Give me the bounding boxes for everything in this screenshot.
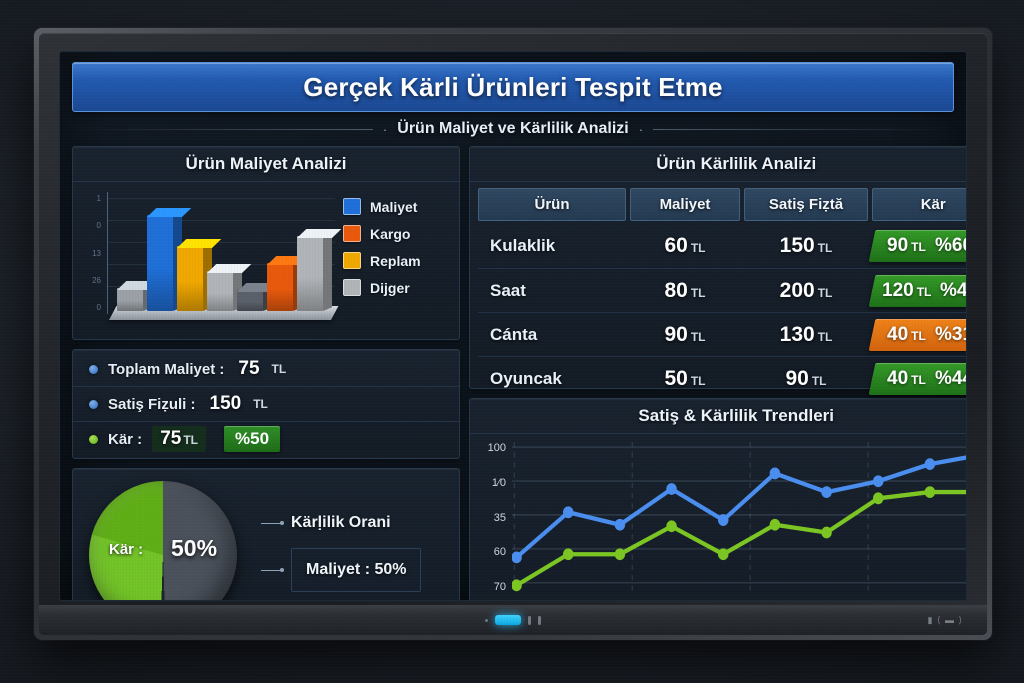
profit-percent: %60 — [935, 235, 967, 257]
power-led-icon[interactable] — [495, 615, 521, 625]
cell-product-name: Kulaklik — [478, 236, 626, 256]
bar-face — [177, 246, 203, 311]
cost-analysis-panel: Ürün Maliyet Analizi 1013260 MaliyetK — [72, 146, 460, 340]
legend-item-replam: Replam — [343, 252, 451, 269]
profit-percent: %44 — [935, 368, 967, 390]
bar-top — [147, 208, 191, 217]
table-row[interactable]: Saat80TL200TL120TL%40 — [478, 268, 967, 312]
trend-data-point — [666, 483, 676, 495]
leader-line-icon — [261, 570, 283, 571]
profit-amount: 90TL — [887, 235, 926, 257]
summary-label: Satiş Fiẓuli : — [108, 396, 196, 413]
trend-data-point — [615, 519, 625, 531]
trend-y-tick: 60 — [478, 546, 506, 558]
right-column: Ürün Kärlilik Analizi ÜrünMaliyetSatiş F… — [469, 146, 967, 601]
summary-value: 75 — [238, 358, 259, 380]
bar-top — [297, 229, 341, 238]
bar-chart-bar — [177, 246, 203, 311]
bar-y-tick: 13 — [81, 249, 101, 258]
bar-face — [207, 271, 233, 311]
leader-line-icon — [261, 523, 283, 524]
profit-amount: 40TL — [887, 368, 926, 390]
bar-face — [117, 288, 143, 311]
trend-chart-y-axis: 1001⁄0356070 — [478, 442, 506, 593]
table-header-cell[interactable]: Maliyet — [630, 188, 740, 221]
monitor-bezel: Gerçek Kärli Ürünleri Tespit Etme · Ürün… — [39, 33, 987, 635]
title-bar: Gerçek Kärli Ürünleri Tespit Etme — [72, 62, 954, 112]
legend-swatch-icon — [343, 198, 361, 215]
bullet-icon — [89, 400, 98, 409]
bar-face — [147, 215, 173, 311]
bar-chart-bar — [117, 288, 143, 311]
dashboard-grid: Ürün Maliyet Analizi 1013260 MaliyetK — [72, 146, 954, 598]
bar-y-tick: 26 — [81, 276, 101, 285]
trend-chart-plot — [512, 442, 967, 593]
summary-unit: TL — [183, 433, 198, 447]
profit-percent: %31 — [935, 324, 967, 346]
bar-chart: 1013260 — [79, 188, 339, 330]
bar-side — [323, 229, 332, 311]
trend-data-point — [925, 458, 935, 470]
legend-item-kargo: Kargo — [343, 225, 451, 242]
subtitle-tick-left: · — [383, 122, 387, 137]
cell-profit-badge: 120TL%40 — [869, 275, 967, 307]
screen: Gerçek Kärli Ürünleri Tespit Etme · Ürün… — [59, 51, 967, 601]
legend-swatch-icon — [343, 279, 361, 296]
table-body: Kulaklik60TL150TL90TL%60Saat80TL200TL120… — [478, 224, 967, 400]
summary-value: 75 — [160, 428, 181, 450]
summary-value: 150 — [210, 393, 242, 415]
bar-top — [177, 239, 221, 248]
trend-chart-legend: SatişlarKär — [470, 597, 967, 601]
cell-profit-badge: 90TL%60 — [869, 230, 967, 262]
summary-label: Toplam Maliyet : — [108, 361, 224, 378]
legend-label: Replam — [370, 253, 421, 269]
summary-unit: TL — [272, 362, 287, 376]
cell-cost: 50TL — [630, 367, 740, 391]
cell-profit-badge: 40TL%31 — [869, 319, 967, 351]
cell-profit-badge: 40TL%44 — [869, 363, 967, 395]
table-header-row: ÜrünMaliyetSatiş FiẓtăKär — [478, 188, 967, 221]
table-row[interactable]: Kulaklik60TL150TL90TL%60 — [478, 224, 967, 268]
legend-item-dijger: Dijger — [343, 279, 451, 296]
bar-chart-bar — [237, 290, 263, 311]
trend-data-point — [873, 475, 883, 487]
trend-data-point — [873, 492, 883, 504]
trend-chart: 1001⁄0356070 SatişlarKär — [470, 434, 967, 601]
bar-chart-bar — [297, 236, 323, 311]
trend-data-point — [770, 468, 780, 480]
profit-amount: 40TL — [887, 324, 926, 346]
profit-ratio-panel: Kär : 50% Kärḷilik Orani — [72, 468, 460, 601]
bar-grid-line — [107, 220, 335, 221]
bar-chart-y-axis: 1013260 — [81, 194, 101, 312]
legend-label: Maliyet — [370, 199, 417, 215]
pie-slice-label: Kär : — [109, 541, 143, 558]
trend-panel-title: Satiş & Kärlilik Trendleri — [470, 399, 967, 434]
bezel-dot-icon — [485, 619, 488, 622]
pie-chart-legend: Kärḷilik Orani Maliyet : 50% — [255, 514, 449, 592]
cell-product-name: Oyuncak — [478, 369, 626, 389]
bar-face — [267, 263, 293, 311]
subtitle-row: · Ürün Maliyet ve Kärlilik Analizi · — [72, 112, 954, 146]
bar-top — [207, 264, 251, 273]
trend-data-point — [563, 506, 573, 518]
bullet-icon — [89, 365, 98, 374]
monitor-bottom-bezel: ▮ ⟨ ▬ ⟩ — [39, 605, 987, 635]
table-panel-title: Ürün Kärlilik Analizi — [470, 147, 967, 182]
bar-chart-plot — [103, 192, 335, 320]
legend-label: Kargo — [370, 226, 410, 242]
bar-chart-bar — [147, 215, 173, 311]
monitor-frame: Gerçek Kärli Ürünleri Tespit Etme · Ürün… — [34, 28, 992, 640]
trend-y-tick: 70 — [478, 581, 506, 593]
bar-chart-bar — [267, 263, 293, 311]
cell-cost: 90TL — [630, 323, 740, 347]
bar-y-tick: 0 — [81, 303, 101, 312]
profitability-table-panel: Ürün Kärlilik Analizi ÜrünMaliyetSatiş F… — [469, 146, 967, 389]
cell-cost: 80TL — [630, 279, 740, 303]
summary-row: Satiş Fiẓuli :150TL — [73, 387, 459, 422]
legend-item-maliyet: Maliyet — [343, 198, 451, 215]
summary-percent-badge: %50 — [224, 426, 280, 452]
table-header-cell[interactable]: Satiş Fiẓtă — [744, 188, 868, 221]
bar-grid-line — [107, 198, 335, 199]
profit-amount: 120TL — [882, 280, 931, 302]
page-title: Gerçek Kärli Ürünleri Tespit Etme — [303, 72, 722, 103]
bezel-brand-glyphs: ▮ ⟨ ▬ ⟩ — [928, 615, 963, 626]
summary-row: Toplam Maliyet :75TL — [73, 352, 459, 387]
cell-product-name: Saat — [478, 281, 626, 301]
legend-label: Dijger — [370, 280, 410, 296]
trends-panel: Satiş & Kärlilik Trendleri 1001⁄0356070 … — [469, 398, 967, 601]
pie-legend-item-cost: Maliyet : 50% — [261, 548, 449, 592]
trend-data-point — [821, 527, 831, 539]
bar-y-tick: 0 — [81, 221, 101, 230]
pie-legend-item-ratio: Kärḷilik Orani — [261, 514, 449, 532]
bar-chart-bar — [207, 271, 233, 311]
cell-price: 150TL — [744, 234, 868, 258]
bar-face — [297, 236, 323, 311]
trend-data-point — [615, 548, 625, 560]
trend-data-point — [718, 548, 728, 560]
bezel-pip-icon — [528, 616, 531, 625]
bar-chart-axis-line — [107, 192, 108, 314]
cost-panel-title: Ürün Maliyet Analizi — [73, 147, 459, 182]
trend-data-point — [563, 548, 573, 560]
page-subtitle: Ürün Maliyet ve Kärlilik Analizi — [397, 120, 628, 138]
cell-price: 130TL — [744, 323, 868, 347]
summary-value-chip: 75TL — [152, 426, 206, 452]
bar-y-tick: 1 — [81, 194, 101, 203]
subtitle-rule-right — [653, 129, 950, 130]
pie-legend-label-ratio: Kärḷilik Orani — [291, 514, 391, 532]
summary-label: Kär : — [108, 431, 142, 448]
profit-percent: %40 — [940, 280, 967, 302]
cost-panel-body: 1013260 MaliyetKargoReplamDijger — [73, 182, 459, 334]
table-row[interactable]: Oyuncak50TL90TL40TL%44 — [478, 356, 967, 400]
subtitle-tick-right: · — [639, 122, 643, 137]
bar-chart-legend: MaliyetKargoReplamDijger — [339, 188, 451, 330]
pie-center-value: 50% — [171, 535, 217, 562]
summary-panel: Toplam Maliyet :75TLSatiş Fiẓuli :150TLK… — [72, 349, 460, 459]
summary-unit: TL — [253, 397, 268, 411]
table-header-cell[interactable]: Kär — [872, 188, 967, 221]
subtitle-rule-left — [76, 129, 373, 130]
trend-data-point — [821, 486, 831, 498]
bar-face — [237, 290, 263, 311]
trend-y-tick: 1⁄0 — [478, 477, 506, 489]
cell-cost: 60TL — [630, 234, 740, 258]
cell-product-name: Cánta — [478, 325, 626, 345]
pie-legend-label-cost: Maliyet : 50% — [306, 561, 406, 578]
bezel-pip-icon — [538, 616, 541, 625]
profitability-table: ÜrünMaliyetSatiş FiẓtăKär Kulaklik60TL15… — [470, 182, 967, 406]
scene-background: Gerçek Kärli Ürünleri Tespit Etme · Ürün… — [0, 0, 1024, 683]
trend-data-point — [666, 520, 676, 532]
legend-swatch-icon — [343, 252, 361, 269]
left-column: Ürün Maliyet Analizi 1013260 MaliyetK — [72, 146, 460, 601]
pie-legend-cost-box: Maliyet : 50% — [291, 548, 421, 592]
table-row[interactable]: Cánta90TL130TL40TL%31 — [478, 312, 967, 356]
summary-row: Kär :75TL%50 — [73, 422, 459, 456]
trend-data-point — [925, 486, 935, 498]
table-header-cell[interactable]: Ürün — [478, 188, 626, 221]
trend-y-tick: 35 — [478, 512, 506, 524]
trend-data-point — [718, 514, 728, 526]
trend-chart-svg — [512, 442, 967, 593]
legend-swatch-icon — [343, 225, 361, 242]
cell-price: 200TL — [744, 279, 868, 303]
bullet-icon — [89, 435, 98, 444]
cell-price: 90TL — [744, 367, 868, 391]
trend-y-tick: 100 — [478, 442, 506, 454]
trend-data-point — [770, 519, 780, 531]
pie-chart: Kär : 50% — [83, 475, 251, 601]
